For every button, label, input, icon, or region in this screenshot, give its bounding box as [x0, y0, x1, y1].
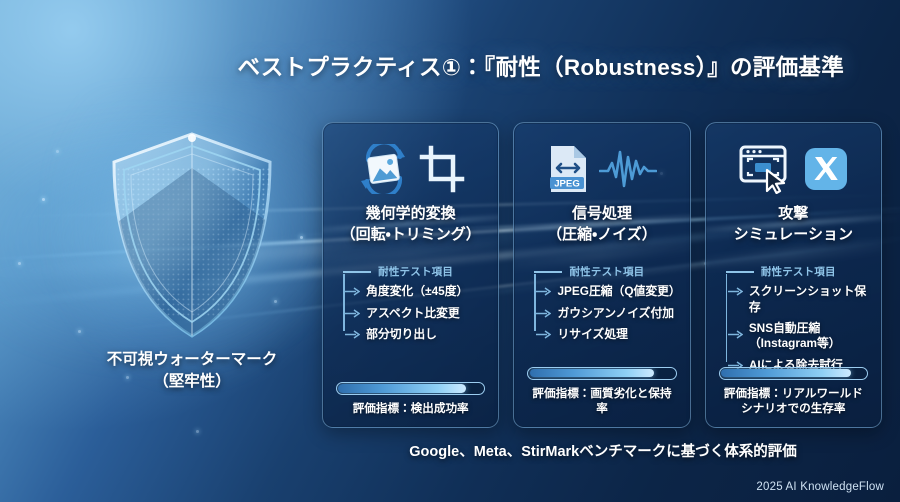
bracket-spine [343, 274, 345, 331]
test-items-header: 耐性テスト項目 [335, 264, 489, 279]
test-items: 耐性テスト項目 JPEG圧縮（Q値変更） ガウシアンノイズ付加 リサイズ処理 [523, 264, 680, 348]
test-item-list: JPEG圧縮（Q値変更） ガウシアンノイズ付加 リサイズ処理 [526, 284, 680, 342]
card-title-line1: 信号処理 [547, 204, 657, 225]
rotate-image-icon [356, 144, 410, 194]
screenshot-capture-icon [739, 144, 795, 194]
card-signal-processing[interactable]: JPEG 信号処理 （圧縮・ノイズ） 耐性テスト項目 [513, 122, 690, 428]
progress-bar-fill [721, 369, 851, 377]
arrow-right-icon [536, 330, 551, 339]
shield-graphic [92, 128, 292, 343]
test-item-list: 角度変化（±45度） アスペクト比変更 部分切り出し [335, 284, 489, 342]
list-item-text: 角度変化（±45度） [366, 284, 468, 299]
card-row: 幾何学的変換 （回転・トリミング） 耐性テスト項目 角度変化（±45度） [322, 122, 882, 428]
list-item: アスペクト比変更 [343, 306, 489, 321]
crop-icon [419, 145, 465, 193]
list-item: リサイズ処理 [534, 327, 680, 342]
metric-label: 評価指標：検出成功率 [336, 401, 485, 416]
card-title-line2: シミュレーション [734, 225, 853, 246]
card-title-line1: 幾何学的変換 [341, 204, 481, 225]
bracket-spine [534, 274, 536, 331]
test-items-label: 耐性テスト項目 [378, 264, 453, 279]
footnote: Google、Meta、StirMarkベンチマークに基づく体系的評価 [322, 440, 884, 461]
progress-bar [336, 382, 485, 395]
header-rule [726, 271, 754, 273]
arrow-right-icon [345, 287, 360, 296]
arrow-right-icon [345, 330, 360, 339]
list-item-text: 部分切り出し [366, 327, 437, 342]
progress-bar [527, 367, 676, 380]
header-rule [343, 271, 371, 273]
progress-bar-fill [338, 384, 465, 392]
shield-caption-line2: （堅牢性） [52, 371, 332, 393]
shield-caption: 不可視ウォーターマーク （堅牢性） [52, 349, 332, 393]
list-item: JPEG圧縮（Q値変更） [534, 284, 680, 299]
list-item-text: JPEG圧縮（Q値変更） [557, 284, 680, 299]
header-rule [534, 271, 562, 273]
svg-text:JPEG: JPEG [555, 179, 581, 190]
metric-label: 評価指標：リアルワールド シナリオでの生存率 [719, 386, 868, 416]
test-item-list: スクリーンショット保存 SNS自動圧縮 （Instagram等） AIによる除去… [718, 284, 872, 373]
card-title: 攻撃 シミュレーション [734, 204, 853, 245]
arrow-right-icon [728, 330, 743, 339]
list-item: ガウシアンノイズ付加 [534, 306, 680, 321]
card-geometric-transform[interactable]: 幾何学的変換 （回転・トリミング） 耐性テスト項目 角度変化（±45度） [322, 122, 499, 428]
test-items: 耐性テスト項目 角度変化（±45度） アスペクト比変更 部分切り出し [332, 264, 489, 348]
list-item: 部分切り出し [343, 327, 489, 342]
test-items-label: 耐性テスト項目 [761, 264, 836, 279]
list-item-text: リサイズ処理 [557, 327, 627, 342]
card-title-line2: （回転・トリミング） [341, 225, 481, 246]
list-item: SNS自動圧縮 （Instagram等） [726, 321, 872, 352]
card-title-line2: （圧縮・ノイズ） [547, 225, 657, 246]
arrow-right-icon [536, 309, 551, 318]
shield-icon [92, 128, 292, 343]
test-items-header: 耐性テスト項目 [718, 264, 872, 279]
jpeg-file-icon: JPEG [546, 143, 590, 195]
card-icons [356, 139, 465, 199]
metric-label: 評価指標：画質劣化と保持率 [527, 386, 676, 416]
x-app-icon [804, 147, 848, 191]
card-icons [739, 139, 848, 199]
test-items-header: 耐性テスト項目 [526, 264, 680, 279]
metric-zone: 評価指標：リアルワールド シナリオでの生存率 [719, 367, 868, 416]
arrow-right-icon [536, 287, 551, 296]
card-title: 幾何学的変換 （回転・トリミング） [341, 204, 481, 245]
list-item-text: スクリーンショット保存 [749, 284, 872, 315]
card-title: 信号処理 （圧縮・ノイズ） [547, 204, 657, 245]
slide-title: ベストプラクティス①：『耐性（Robustness）』の評価基準 [0, 50, 882, 82]
card-title-line1: 攻撃 [734, 204, 853, 225]
shield-caption-line1: 不可視ウォーターマーク [52, 349, 332, 371]
metric-zone: 評価指標：画質劣化と保持率 [527, 367, 676, 416]
list-item: スクリーンショット保存 [726, 284, 872, 315]
list-item-text: アスペクト比変更 [366, 306, 460, 321]
progress-bar [719, 367, 868, 380]
arrow-right-icon [728, 287, 743, 296]
test-items: 耐性テスト項目 スクリーンショット保存 SNS自動圧縮 （Instagram等） [715, 264, 872, 379]
card-icons: JPEG [546, 139, 657, 199]
waveform-icon [599, 147, 657, 191]
list-item-text: SNS自動圧縮 （Instagram等） [749, 321, 841, 352]
list-item: 角度変化（±45度） [343, 284, 489, 299]
card-attack-simulation[interactable]: 攻撃 シミュレーション 耐性テスト項目 スクリーンショット保存 SNS自 [705, 122, 882, 428]
metric-zone: 評価指標：検出成功率 [336, 382, 485, 416]
credit-label: 2025 AI KnowledgeFlow [756, 481, 884, 493]
arrow-right-icon [345, 309, 360, 318]
list-item-text: ガウシアンノイズ付加 [557, 306, 674, 321]
slide-canvas: ベストプラクティス①：『耐性（Robustness）』の評価基準 [0, 0, 900, 502]
progress-bar-fill [530, 369, 654, 377]
test-items-label: 耐性テスト項目 [569, 264, 644, 279]
